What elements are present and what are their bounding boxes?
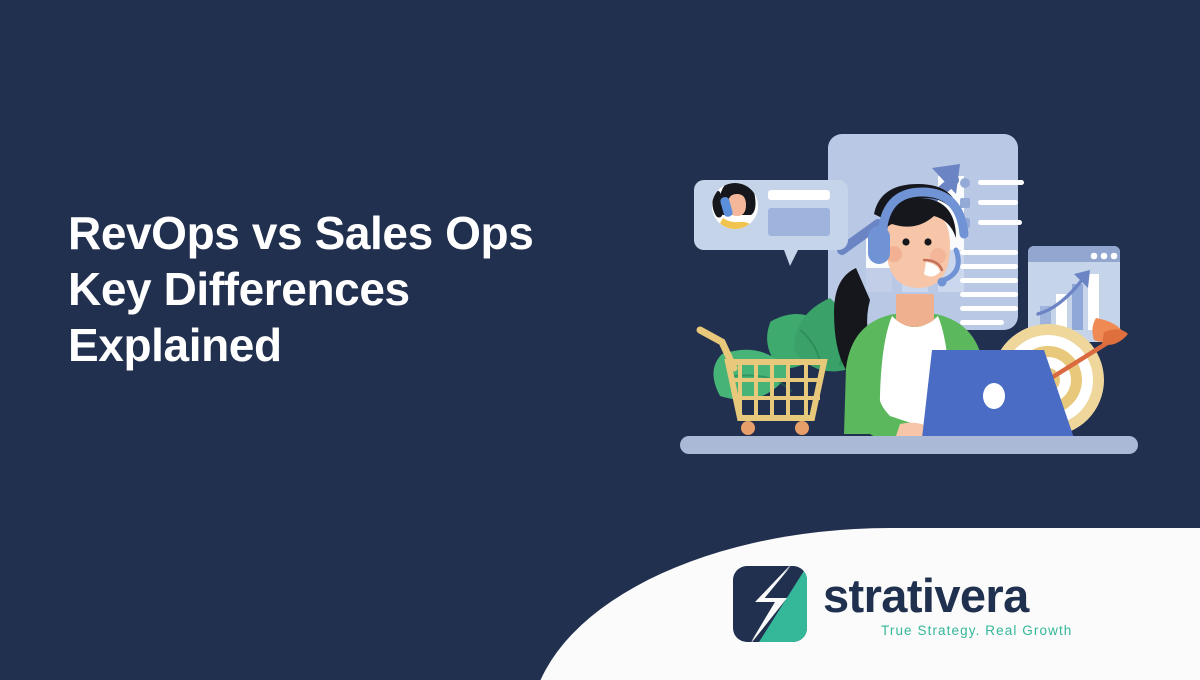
page-title-line-3: Explained — [68, 317, 668, 373]
brand-tagline: True Strategy. Real Growth — [881, 623, 1072, 638]
chat-bubble-card — [694, 179, 848, 266]
page-title-line-1: RevOps vs Sales Ops — [68, 205, 668, 261]
brand-text: strativera True Strategy. Real Growth — [823, 571, 1072, 638]
brand-logo[interactable]: strativera True Strategy. Real Growth — [733, 566, 1072, 642]
banner-canvas: RevOps vs Sales Ops Key Differences Expl… — [0, 0, 1200, 680]
hero-illustration — [660, 118, 1160, 458]
desk-surface — [680, 436, 1138, 454]
page-title: RevOps vs Sales Ops Key Differences Expl… — [68, 205, 668, 373]
page-title-line-2: Key Differences — [68, 261, 668, 317]
lightning-bolt-square-logo-icon — [733, 566, 807, 642]
brand-wordmark: strativera — [823, 571, 1029, 621]
